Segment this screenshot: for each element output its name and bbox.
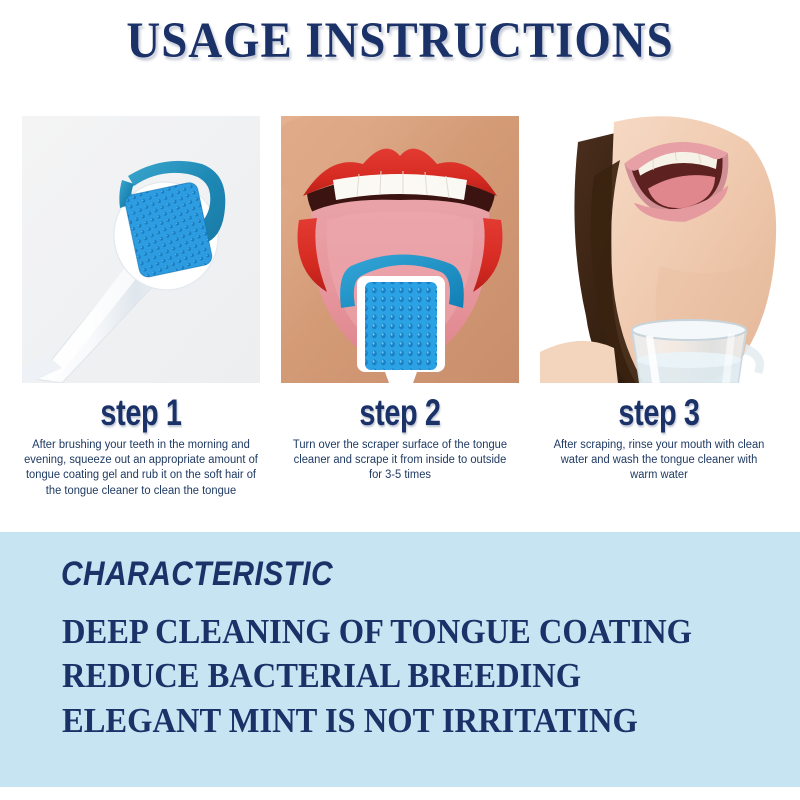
step-card-1: step 1 After brushing your teeth in the … <box>21 116 261 499</box>
characteristic-line-1: DEEP CLEANING OF TONGUE COATING <box>62 610 722 654</box>
characteristic-panel: CHARACTERISTIC DEEP CLEANING OF TONGUE C… <box>0 532 800 787</box>
page-title: USAGE INSTRUCTIONS <box>32 12 768 70</box>
characteristic-title: CHARACTERISTIC <box>61 555 333 594</box>
step-description-2: Turn over the scraper surface of the ton… <box>290 438 509 484</box>
tongue-scraping-demo-photo <box>281 116 519 383</box>
step-description-3: After scraping, rinse your mouth with cl… <box>549 438 768 484</box>
rinsing-mouth-photo <box>540 116 778 383</box>
step-heading-3: step 3 <box>618 394 699 431</box>
tongue-cleaner-product-photo <box>22 116 260 383</box>
characteristic-line-2: REDUCE BACTERIAL BREEDING <box>62 654 722 698</box>
characteristic-line-3: ELEGANT MINT IS NOT IRRITATING <box>62 699 722 743</box>
step-heading-2: step 2 <box>359 394 440 431</box>
steps-row: step 1 After brushing your teeth in the … <box>21 116 779 499</box>
step-heading-1: step 1 <box>100 394 181 431</box>
step-description-1: After brushing your teeth in the morning… <box>24 438 259 499</box>
step-card-3: step 3 After scraping, rinse your mouth … <box>539 116 779 499</box>
step-card-2: step 2 Turn over the scraper surface of … <box>280 116 520 499</box>
characteristic-list: DEEP CLEANING OF TONGUE COATING REDUCE B… <box>62 610 772 743</box>
